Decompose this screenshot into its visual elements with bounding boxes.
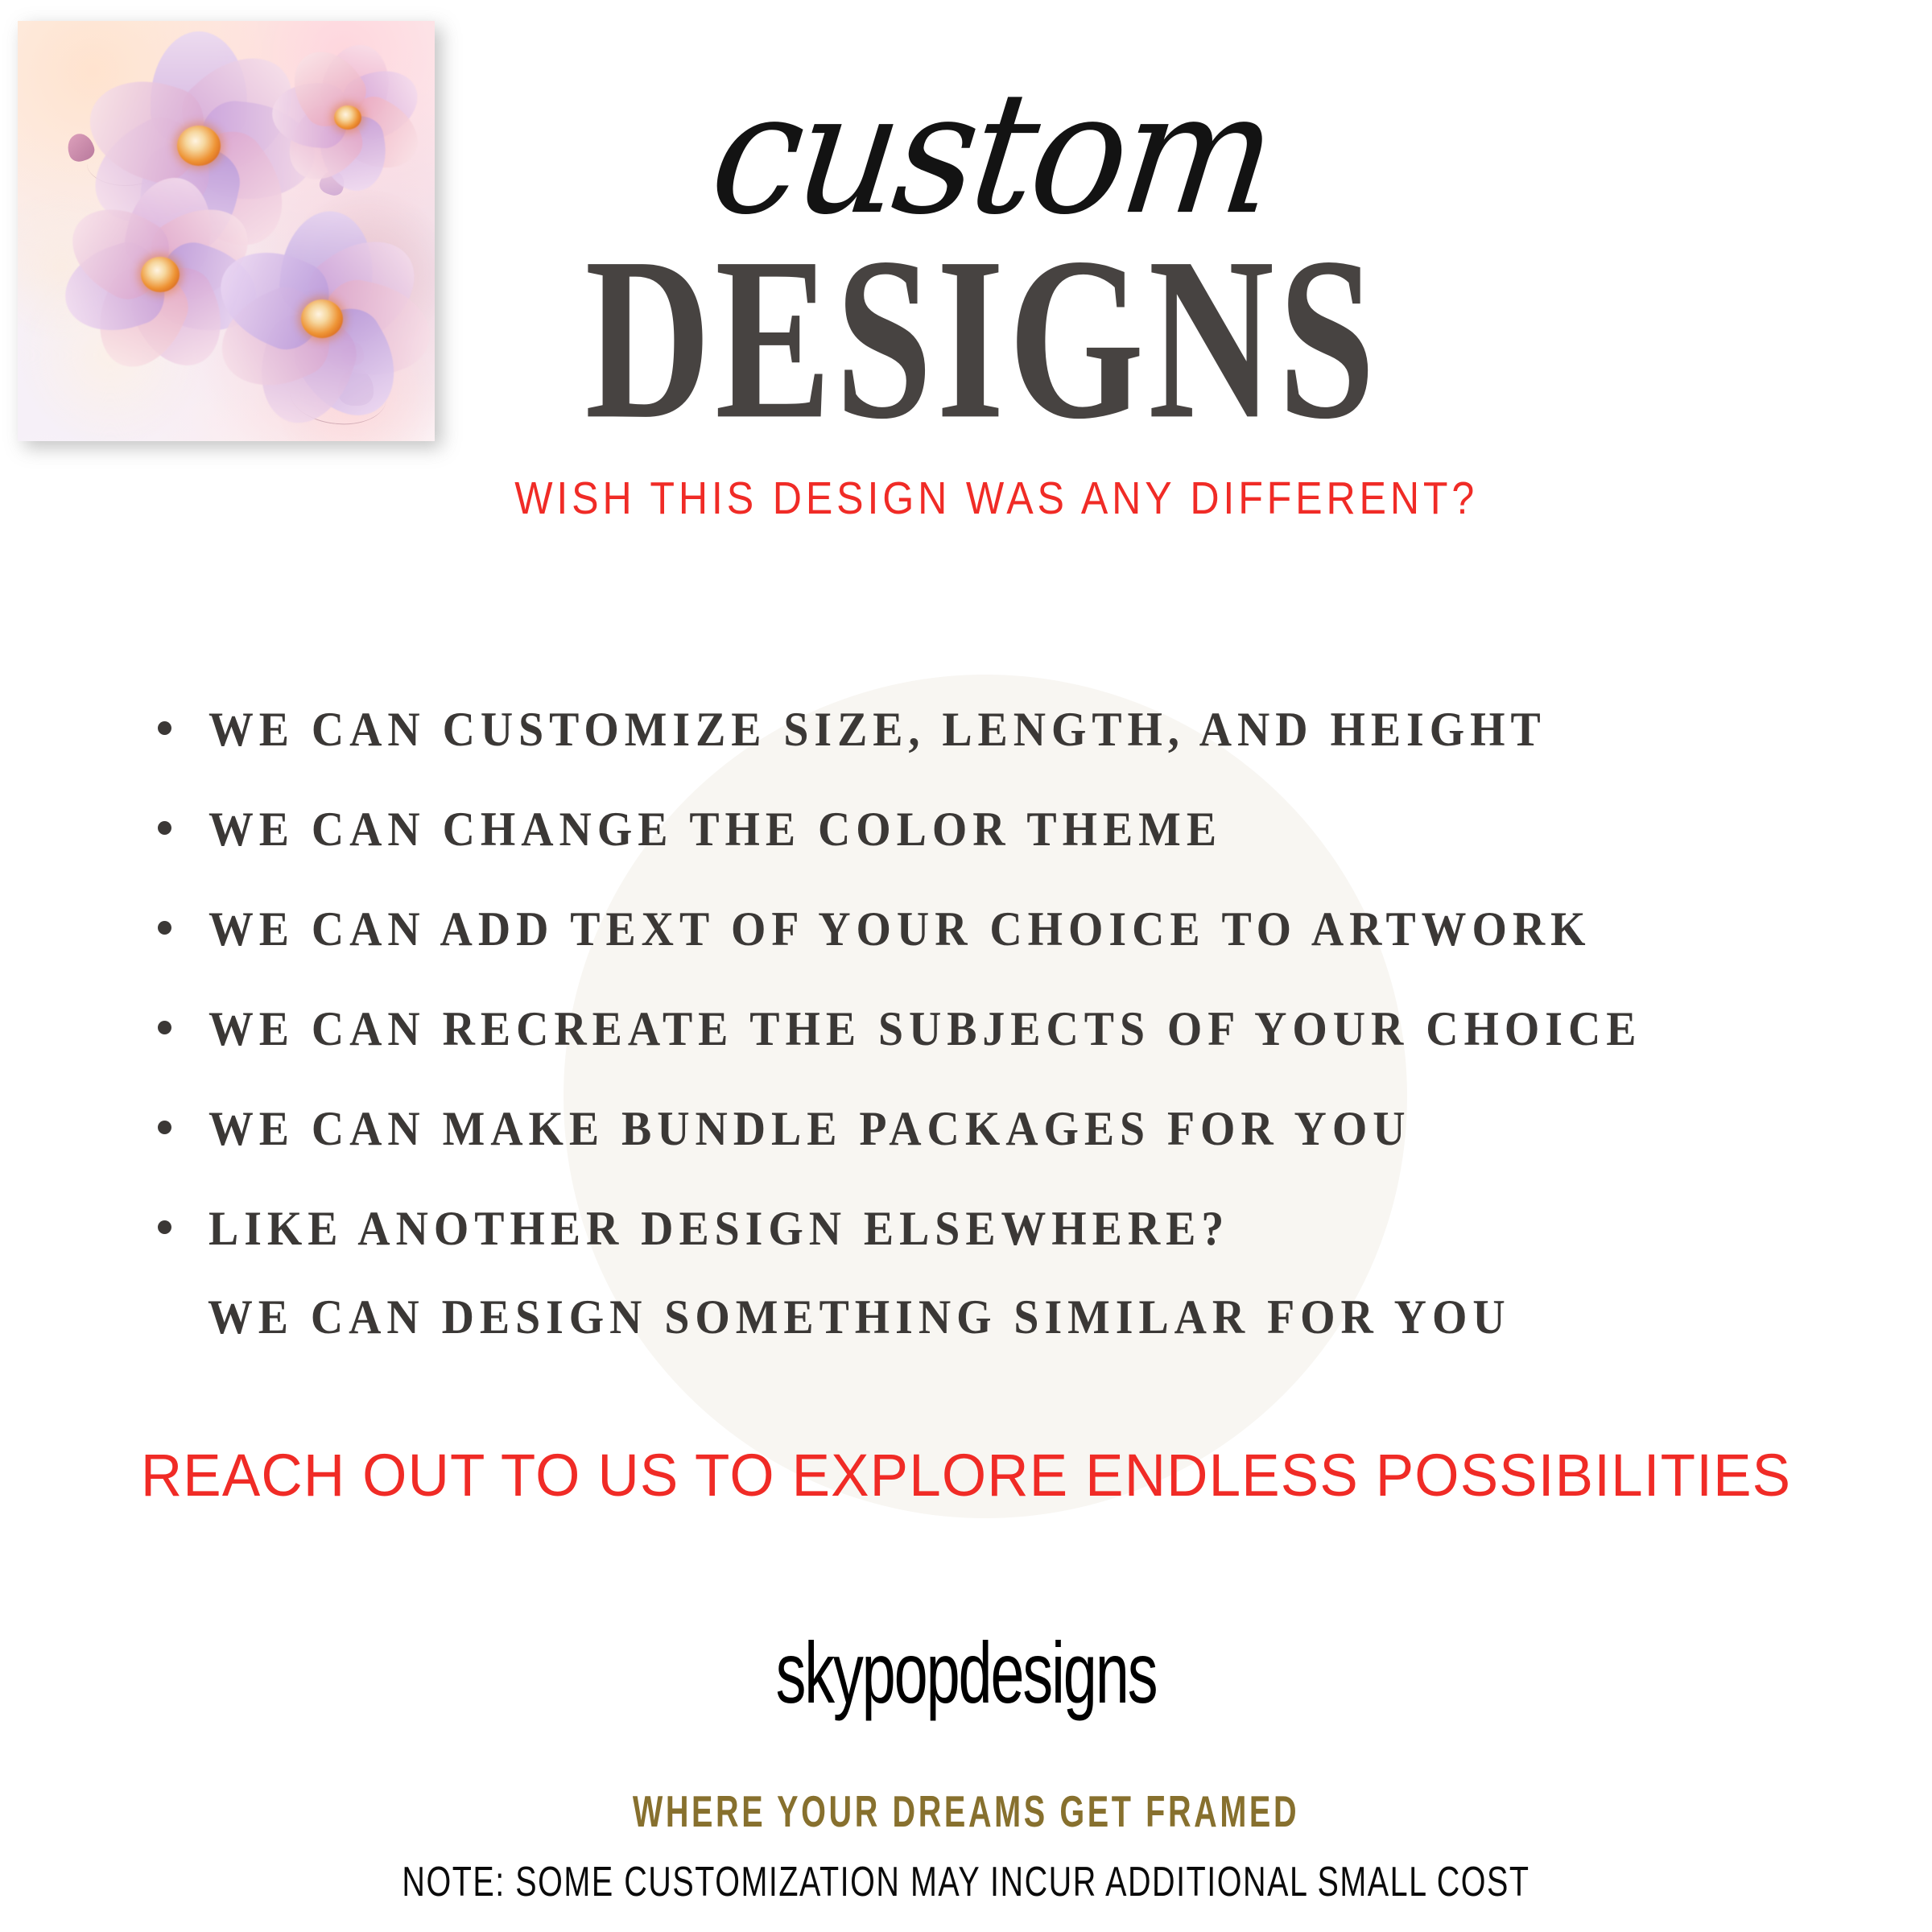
call-to-action-text: REACH OUT TO US TO EXPLORE ENDLESS POSSI… <box>39 1441 1893 1509</box>
list-item: WE CAN MAKE BUNDLE PACKAGES FOR YOU <box>158 1101 1816 1201</box>
list-item: WE CAN RECREATE THE SUBJECTS OF YOUR CHO… <box>158 1001 1816 1101</box>
feature-list: WE CAN CUSTOMIZE SIZE, LENGTH, AND HEIGH… <box>158 702 1816 1301</box>
brand-tagline: WHERE YOUR DREAMS GET FRAMED <box>270 1785 1662 1837</box>
product-artwork-image[interactable] <box>18 21 435 441</box>
list-item: LIKE ANOTHER DESIGN ELSEWHERE? <box>158 1201 1816 1301</box>
feature-label: WE CAN CHANGE THE COLOR THEME <box>208 802 1222 857</box>
footer-note: NOTE: SOME CUSTOMIZATION MAY INCUR ADDIT… <box>232 1858 1700 1906</box>
bullet-dot-icon <box>158 721 171 735</box>
list-item: WE CAN ADD TEXT OF YOUR CHOICE TO ARTWOR… <box>158 902 1816 1001</box>
bullet-dot-icon <box>158 921 171 935</box>
feature-label: LIKE ANOTHER DESIGN ELSEWHERE? <box>208 1201 1229 1257</box>
headline-subtitle: WISH THIS DESIGN WAS ANY DIFFERENT? <box>514 472 1450 525</box>
feature-label: WE CAN CUSTOMIZE SIZE, LENGTH, AND HEIGH… <box>208 702 1546 758</box>
bullet-dot-icon <box>158 1121 171 1134</box>
list-item: WE CAN CHANGE THE COLOR THEME <box>158 802 1816 902</box>
feature-label: WE CAN ADD TEXT OF YOUR CHOICE TO ARTWOR… <box>208 902 1591 957</box>
flower-artwork-icon <box>18 21 435 441</box>
bullet-dot-icon <box>158 1021 171 1034</box>
headline-script-custom: custom <box>441 76 1523 232</box>
page-title: DESIGNS <box>536 239 1429 440</box>
bullet-dot-icon <box>158 1220 171 1234</box>
list-item: WE CAN CUSTOMIZE SIZE, LENGTH, AND HEIGH… <box>158 702 1816 802</box>
headline-block: custom DESIGNS WISH THIS DESIGN WAS ANY … <box>451 80 1513 525</box>
bullet-dot-icon <box>158 821 171 835</box>
feature-continuation-text: WE CAN DESIGN SOMETHING SIMILAR FOR YOU <box>208 1290 1511 1345</box>
brand-logo-text: skypopdesigns <box>290 1622 1642 1723</box>
feature-label: WE CAN RECREATE THE SUBJECTS OF YOUR CHO… <box>208 1001 1641 1057</box>
feature-label: WE CAN MAKE BUNDLE PACKAGES FOR YOU <box>208 1101 1410 1157</box>
